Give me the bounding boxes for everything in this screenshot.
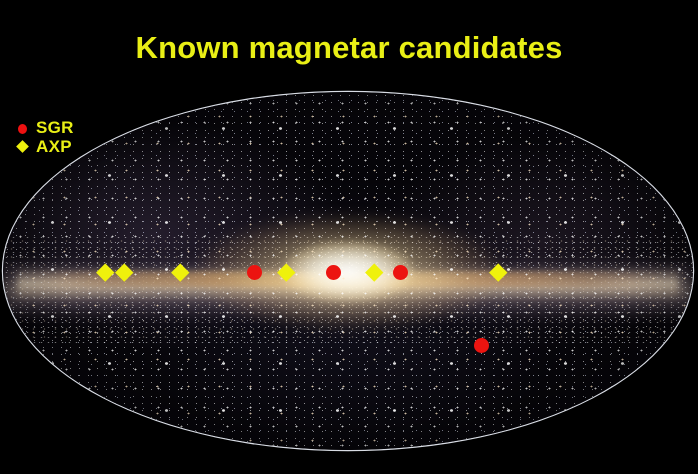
magnetar-sky-map-figure: Known magnetar candidates SGR AXP — [0, 0, 698, 474]
marker-sgr-3 — [393, 265, 408, 280]
marker-sgr-4 — [474, 338, 489, 353]
figure-title: Known magnetar candidates — [0, 30, 698, 66]
marker-sgr-2 — [326, 265, 341, 280]
marker-sgr-1 — [247, 265, 262, 280]
